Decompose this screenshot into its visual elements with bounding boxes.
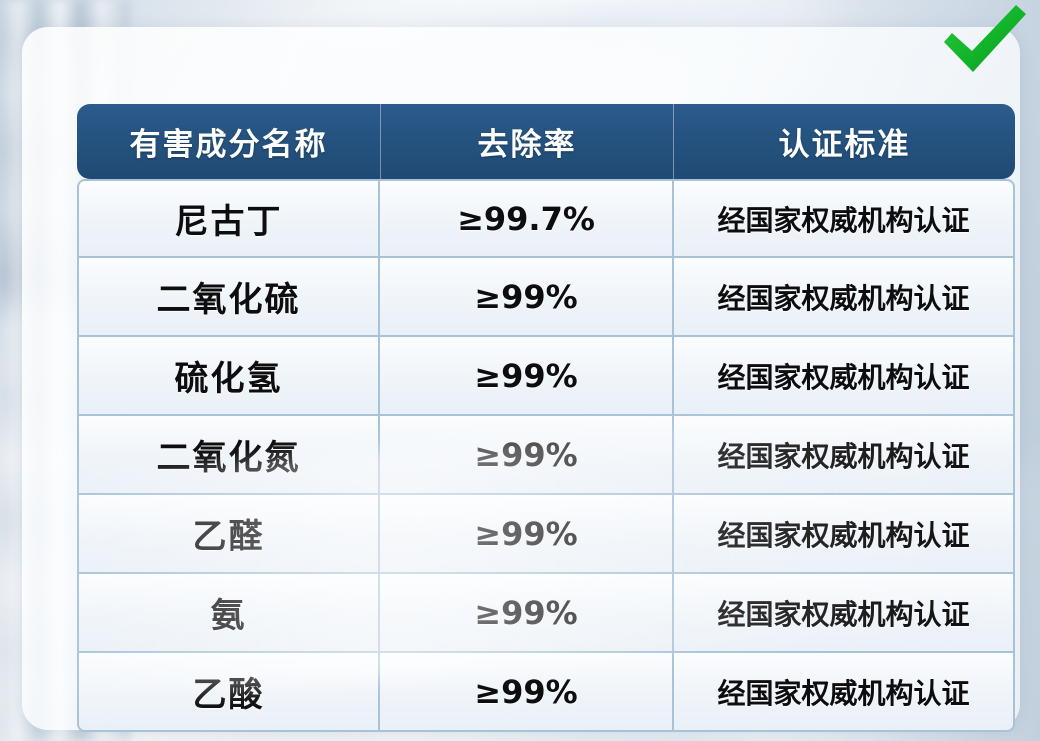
cell-certification: 经国家权威机构认证: [674, 179, 1015, 258]
cell-certification: 经国家权威机构认证: [674, 337, 1015, 416]
cell-removal-rate: ≥99%: [380, 495, 674, 574]
table-body: 尼古丁 ≥99.7% 经国家权威机构认证 二氧化硫 ≥99% 经国家权威机构认证…: [77, 179, 1015, 732]
cell-certification: 经国家权威机构认证: [674, 495, 1015, 574]
cell-certification: 经国家权威机构认证: [674, 258, 1015, 337]
table-row: 硫化氢 ≥99% 经国家权威机构认证: [77, 337, 1015, 416]
cell-removal-rate: ≥99%: [380, 653, 674, 732]
table-row: 尼古丁 ≥99.7% 经国家权威机构认证: [77, 179, 1015, 258]
table-row: 二氧化氮 ≥99% 经国家权威机构认证: [77, 416, 1015, 495]
cell-certification: 经国家权威机构认证: [674, 416, 1015, 495]
cell-component-name: 氨: [77, 574, 380, 653]
table-row: 氨 ≥99% 经国家权威机构认证: [77, 574, 1015, 653]
column-header-removal-rate: 去除率: [380, 104, 674, 179]
cell-removal-rate: ≥99%: [380, 574, 674, 653]
cell-removal-rate: ≥99%: [380, 337, 674, 416]
cell-component-name: 二氧化氮: [77, 416, 380, 495]
cell-component-name: 乙酸: [77, 653, 380, 732]
cell-component-name: 二氧化硫: [77, 258, 380, 337]
column-header-component: 有害成分名称: [77, 104, 380, 179]
cell-removal-rate: ≥99%: [380, 258, 674, 337]
cell-component-name: 尼古丁: [77, 179, 380, 258]
table-header: 有害成分名称 去除率 认证标准: [77, 104, 1015, 179]
cell-certification: 经国家权威机构认证: [674, 653, 1015, 732]
slide-canvas: 有害成分名称 去除率 认证标准 尼古丁 ≥99.7% 经国家权威机构认证 二氧化…: [0, 0, 1040, 741]
header-row: 有害成分名称 去除率 认证标准: [77, 104, 1015, 179]
table-row: 乙醛 ≥99% 经国家权威机构认证: [77, 495, 1015, 574]
spec-table-container: 有害成分名称 去除率 认证标准 尼古丁 ≥99.7% 经国家权威机构认证 二氧化…: [77, 104, 1015, 738]
table-row: 乙酸 ≥99% 经国家权威机构认证: [77, 653, 1015, 732]
column-header-certification: 认证标准: [674, 104, 1015, 179]
cell-component-name: 硫化氢: [77, 337, 380, 416]
cell-removal-rate: ≥99%: [380, 416, 674, 495]
cell-component-name: 乙醛: [77, 495, 380, 574]
spec-card: 有害成分名称 去除率 认证标准 尼古丁 ≥99.7% 经国家权威机构认证 二氧化…: [22, 27, 1020, 730]
table-row: 二氧化硫 ≥99% 经国家权威机构认证: [77, 258, 1015, 337]
cell-certification: 经国家权威机构认证: [674, 574, 1015, 653]
spec-table: 有害成分名称 去除率 认证标准 尼古丁 ≥99.7% 经国家权威机构认证 二氧化…: [77, 104, 1015, 732]
cell-removal-rate: ≥99.7%: [380, 179, 674, 258]
